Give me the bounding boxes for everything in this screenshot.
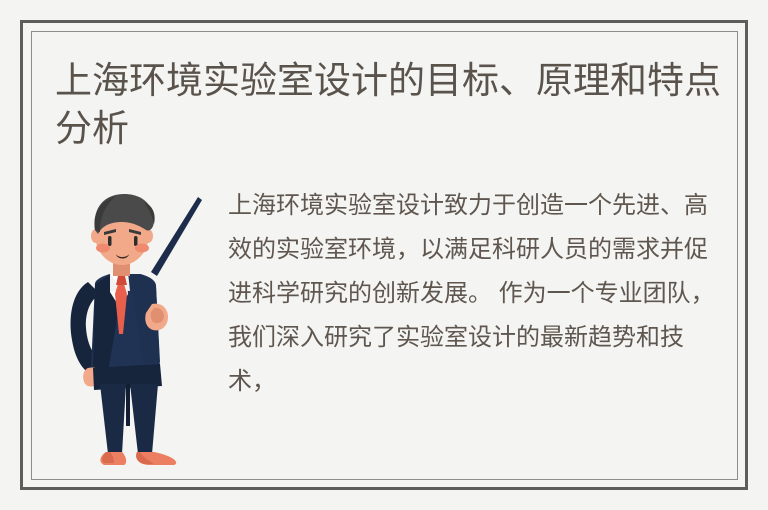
article-page: 上海环境实验室设计的目标、原理和特点分析: [0, 0, 768, 510]
page-title: 上海环境实验室设计的目标、原理和特点分析: [55, 57, 727, 153]
article-body-text: 上海环境实验室设计致力于创造一个先进、高效的实验室环境，以满足科研人员的需求并促…: [228, 184, 728, 404]
article-content: 上海环境实验室设计致力于创造一个先进、高效的实验室环境，以满足科研人员的需求并促…: [48, 172, 732, 472]
businessman-with-pointer-icon: [48, 172, 218, 472]
